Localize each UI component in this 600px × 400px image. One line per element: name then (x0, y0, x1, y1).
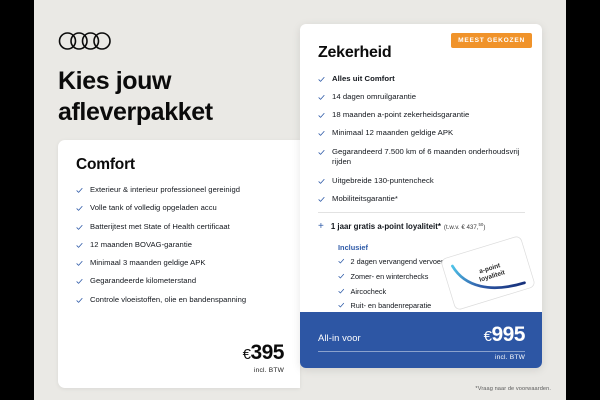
check-icon (318, 112, 325, 119)
list-item: Controle vloeistoffen, olie en bandenspa… (76, 295, 284, 306)
check-icon (76, 187, 83, 194)
comfort-price-block: €395 incl. BTW (243, 342, 284, 374)
audi-rings-logo (58, 30, 124, 52)
comfort-price: €395 (243, 342, 284, 363)
check-icon (318, 94, 325, 101)
price-amount: 995 (491, 323, 525, 346)
list-item: Minimaal 12 maanden geldige APK (318, 128, 525, 139)
inclusief-text: Zomer- en winterchecks (351, 272, 429, 281)
promo-page: Kies jouw afleverpakket Comfort Exterieu… (34, 0, 566, 400)
price-row: All-in voor €995 (318, 324, 525, 345)
check-icon (76, 242, 83, 249)
feature-text: 12 maanden BOVAG-garantie (90, 240, 284, 251)
divider (318, 212, 525, 213)
feature-text: Uitgebreide 130-puntencheck (332, 176, 525, 187)
zekerheid-price-note: incl. BTW (318, 354, 525, 361)
inclusief-text: Ruit- en bandenreparatie (351, 301, 432, 310)
list-item: 18 maanden a-point zekerheidsgarantie (318, 110, 525, 121)
list-item: 12 maanden BOVAG-garantie (76, 240, 284, 251)
list-item: Minimaal 3 maanden geldige APK (76, 258, 284, 269)
left-column: Kies jouw afleverpakket Comfort Exterieu… (34, 0, 300, 400)
check-icon (318, 149, 325, 156)
feature-text: Gegarandeerde kilometerstand (90, 276, 284, 287)
comfort-feature-list: Exterieur & interieur professioneel gere… (76, 185, 284, 305)
list-item: Exterieur & interieur professioneel gere… (76, 185, 284, 196)
feature-text: 18 maanden a-point zekerheidsgarantie (332, 110, 525, 121)
zekerheid-price: €995 (484, 324, 525, 345)
inclusief-text: 2 dagen vervangend vervoer (351, 257, 444, 266)
footnote: *Vraag naar de voorwaarden. (475, 386, 551, 392)
zekerheid-body: Zekerheid Alles uit Comfort 14 dagen omr… (300, 24, 542, 311)
list-item: Alles uit Comfort (318, 74, 525, 85)
list-item: Volle tank of volledig opgeladen accu (76, 203, 284, 214)
comfort-heading: Comfort (76, 156, 284, 174)
zekerheid-feature-list: Alles uit Comfort 14 dagen omruilgaranti… (318, 74, 525, 205)
plus-icon: + (318, 222, 324, 232)
check-icon (76, 297, 83, 304)
check-icon (338, 302, 345, 309)
feature-text: Exterieur & interieur professioneel gere… (90, 185, 284, 196)
check-icon (318, 76, 325, 83)
feature-text: Batterijtest met State of Health certifi… (90, 222, 284, 233)
comfort-package-card[interactable]: Comfort Exterieur & interieur profession… (58, 140, 300, 388)
status-badge: MEEST GEKOZEN (451, 33, 532, 48)
list-item: Mobiliteitsgarantie* (318, 194, 525, 205)
check-icon (76, 224, 83, 231)
screenshot-stage: Kies jouw afleverpakket Comfort Exterieu… (0, 0, 600, 400)
list-item: Batterijtest met State of Health certifi… (76, 222, 284, 233)
zekerheid-package-card[interactable]: MEEST GEKOZEN Zekerheid Alles uit Comfor… (300, 24, 542, 368)
inclusief-section: Inclusief 2 dagen vervangend vervoer Zom… (318, 243, 525, 311)
check-icon (76, 205, 83, 212)
list-item: Gegarandeerd 7.500 km of 6 maanden onder… (318, 147, 525, 169)
list-item: Uitgebreide 130-puntencheck (318, 176, 525, 187)
loyalty-value-suffix: ) (483, 224, 485, 231)
check-icon (76, 260, 83, 267)
zekerheid-price-bar: All-in voor €995 incl. BTW (300, 312, 542, 368)
feature-text: Controle vloeistoffen, olie en bandenspa… (90, 295, 284, 306)
check-icon (318, 196, 325, 203)
check-icon (338, 288, 345, 295)
price-amount: 395 (250, 341, 284, 364)
list-item: Gegarandeerde kilometerstand (76, 276, 284, 287)
loyalty-text: 1 jaar gratis a-point loyaliteit*(t.w.v.… (331, 222, 486, 231)
page-title: Kies jouw afleverpakket (58, 66, 288, 127)
check-icon (338, 273, 345, 280)
loyalty-row: + 1 jaar gratis a-point loyaliteit*(t.w.… (318, 222, 525, 232)
check-icon (318, 178, 325, 185)
feature-text: Gegarandeerd 7.500 km of 6 maanden onder… (332, 147, 525, 169)
loyalty-value-prefix: (t.w.v. € 437, (444, 224, 479, 231)
feature-text: Minimaal 12 maanden geldige APK (332, 128, 525, 139)
feature-text: 14 dagen omruilgarantie (332, 92, 525, 103)
inclusief-text: Aircocheck (351, 287, 387, 296)
list-item: Ruit- en bandenreparatie (338, 301, 525, 310)
list-item: 14 dagen omruilgarantie (318, 92, 525, 103)
feature-text: Volle tank of volledig opgeladen accu (90, 203, 284, 214)
feature-text: Mobiliteitsgarantie* (332, 194, 525, 205)
loyalty-value: (t.w.v. € 437,50) (444, 224, 485, 231)
loyalty-label: 1 jaar gratis a-point loyaliteit* (331, 222, 441, 231)
divider (318, 351, 525, 352)
comfort-price-note: incl. BTW (243, 367, 284, 374)
check-icon (338, 258, 345, 265)
feature-text: Alles uit Comfort (332, 74, 525, 85)
allin-label: All-in voor (318, 332, 361, 343)
feature-text: Minimaal 3 maanden geldige APK (90, 258, 284, 269)
check-icon (76, 278, 83, 285)
check-icon (318, 130, 325, 137)
